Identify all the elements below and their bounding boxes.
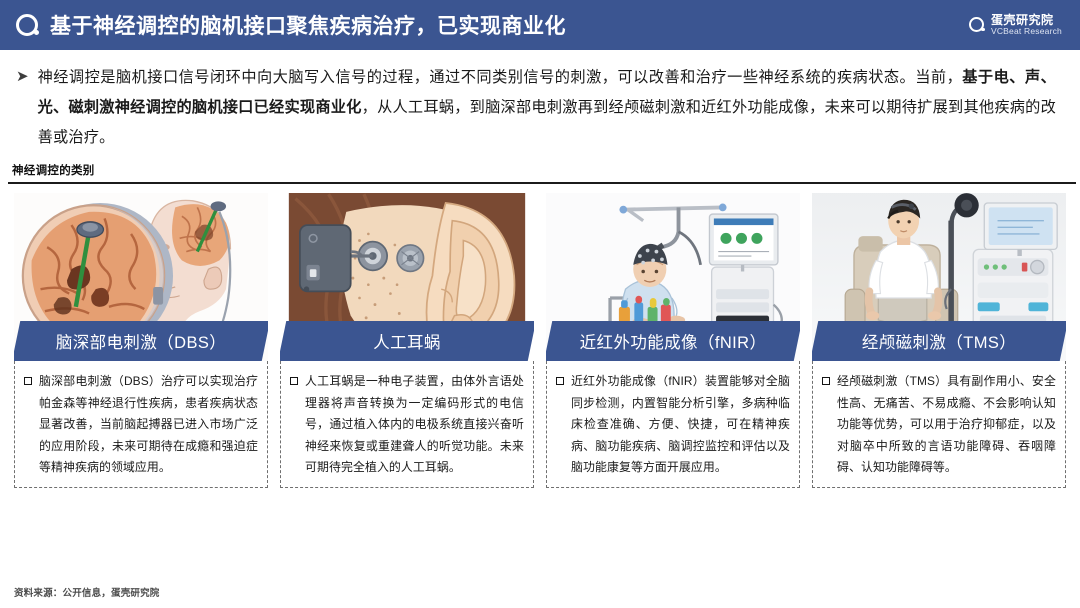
card-body-text: 脑深部电刺激（DBS）治疗可以实现治疗帕金森等神经退行性疾病，患者疾病状态显著改… — [39, 371, 258, 479]
section-label-block: 神经调控的类别 — [0, 153, 1080, 184]
card-title-banner: 经颅磁刺激（TMS） — [812, 321, 1066, 361]
ring-dot-logo-icon — [969, 17, 984, 32]
square-bullet-icon — [822, 377, 830, 385]
card-cochlear[interactable]: 人工耳蜗 人工耳蜗是一种电子装置，由体外言语处理器将声音转换为一定编码形式的电信… — [280, 193, 534, 488]
intro-paragraph: ➤ 神经调控是脑机接口信号闭环中向大脑写入信号的过程，通过不同类别信号的刺激，可… — [0, 50, 1080, 153]
card-dbs[interactable]: 脑深部电刺激（DBS） 脑深部电刺激（DBS）治疗可以实现治疗帕金森等神经退行性… — [14, 193, 268, 488]
brand-name-en: VCBeat Research — [991, 27, 1062, 36]
card-title-banner: 人工耳蜗 — [280, 321, 534, 361]
card-figure: 脑深部电刺激（DBS） — [14, 193, 268, 361]
square-bullet-icon — [290, 377, 298, 385]
page-header: 基于神经调控的脑机接口聚焦疾病治疗，已实现商业化 蛋壳研究院 VCBeat Re… — [0, 0, 1080, 50]
intro-text: 神经调控是脑机接口信号闭环中向大脑写入信号的过程，通过不同类别信号的刺激，可以改… — [38, 63, 1056, 153]
card-title-banner: 脑深部电刺激（DBS） — [14, 321, 268, 361]
card-title: 近红外功能成像（fNIR） — [580, 329, 767, 353]
ring-dot-logo-icon — [16, 14, 38, 36]
card-grid: 脑深部电刺激（DBS） 脑深部电刺激（DBS）治疗可以实现治疗帕金森等神经退行性… — [0, 184, 1080, 488]
card-body-text: 近红外功能成像（fNIR）装置能够对全脑同步检测，内置智能分析引擎，多病种临床检… — [571, 371, 790, 479]
card-body: 脑深部电刺激（DBS）治疗可以实现治疗帕金森等神经退行性疾病，患者疾病状态显著改… — [14, 361, 268, 488]
card-title: 脑深部电刺激（DBS） — [56, 329, 226, 353]
card-tms[interactable]: 经颅磁刺激（TMS） 经颅磁刺激（TMS）具有副作用小、安全性高、无痛苦、不易成… — [812, 193, 1066, 488]
brand-name-cn: 蛋壳研究院 — [991, 14, 1062, 27]
brand-text-block: 蛋壳研究院 VCBeat Research — [991, 14, 1062, 36]
header-left-group: 基于神经调控的脑机接口聚焦疾病治疗，已实现商业化 — [16, 10, 969, 40]
card-figure: 近红外功能成像（fNIR） — [546, 193, 800, 361]
card-figure: 人工耳蜗 — [280, 193, 534, 361]
page-title: 基于神经调控的脑机接口聚焦疾病治疗，已实现商业化 — [50, 10, 566, 40]
card-body: 近红外功能成像（fNIR）装置能够对全脑同步检测，内置智能分析引擎，多病种临床检… — [546, 361, 800, 488]
card-fnir[interactable]: 近红外功能成像（fNIR） 近红外功能成像（fNIR）装置能够对全脑同步检测，内… — [546, 193, 800, 488]
card-figure: 经颅磁刺激（TMS） — [812, 193, 1066, 361]
card-body-text: 经颅磁刺激（TMS）具有副作用小、安全性高、无痛苦、不易成瘾、不会影响认知功能等… — [837, 371, 1056, 479]
card-title: 人工耳蜗 — [373, 329, 441, 353]
card-body: 经颅磁刺激（TMS）具有副作用小、安全性高、无痛苦、不易成瘾、不会影响认知功能等… — [812, 361, 1066, 488]
card-title-banner: 近红外功能成像（fNIR） — [546, 321, 800, 361]
card-body-text: 人工耳蜗是一种电子装置，由体外言语处理器将声音转换为一定编码形式的电信号，通过植… — [305, 371, 524, 479]
brand-logo: 蛋壳研究院 VCBeat Research — [969, 14, 1062, 36]
section-label: 神经调控的类别 — [12, 162, 1072, 182]
card-body: 人工耳蜗是一种电子装置，由体外言语处理器将声音转换为一定编码形式的电信号，通过植… — [280, 361, 534, 488]
intro-text-part1: 神经调控是脑机接口信号闭环中向大脑写入信号的过程，通过不同类别信号的刺激，可以改… — [38, 69, 963, 86]
arrow-bullet-icon: ➤ — [16, 62, 29, 152]
card-title: 经颅磁刺激（TMS） — [862, 329, 1016, 353]
source-note: 资料来源：公开信息，蛋壳研究院 — [14, 585, 160, 599]
square-bullet-icon — [24, 377, 32, 385]
square-bullet-icon — [556, 377, 564, 385]
